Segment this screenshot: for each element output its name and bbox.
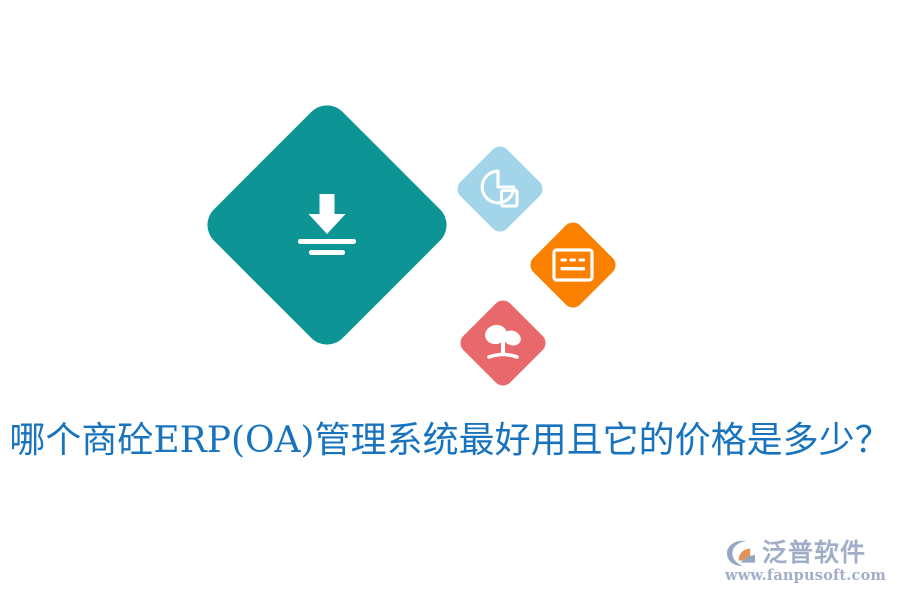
brand-url: www.fanpusoft.com [725, 567, 886, 584]
diamond-analytics [453, 142, 546, 235]
brand-watermark: 泛普软件 www.fanpusoft.com [724, 538, 886, 584]
page-title: 哪个商砼ERP(OA)管理系统最好用且它的价格是多少？ [0, 414, 900, 468]
download-icon [291, 192, 363, 258]
pie-chart-icon [479, 168, 521, 210]
diamond-sprout [456, 296, 549, 389]
diamond-form [526, 218, 619, 311]
sprout-icon [482, 323, 524, 363]
id-card-icon [552, 248, 594, 282]
diamond-download [198, 96, 455, 353]
fanpu-logo-icon [724, 538, 758, 568]
diamond-cluster [0, 0, 900, 420]
brand-row: 泛普软件 [724, 538, 866, 568]
brand-name: 泛普软件 [762, 538, 866, 568]
banner-canvas: 哪个商砼ERP(OA)管理系统最好用且它的价格是多少？ 泛普软件 www.fan… [0, 0, 900, 600]
